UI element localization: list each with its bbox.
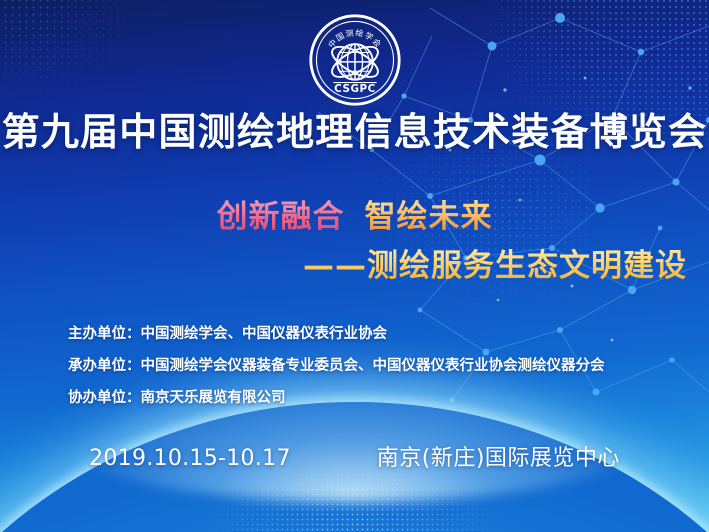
organizer-undertaker: 承办单位：中国测绘学会仪器装备专业委员会、中国仪器仪表行业协会测绘仪器分会 (68, 350, 605, 382)
event-date: 2019.10.15-10.17 (89, 446, 291, 471)
csgpc-logo: 中国测绘学会 CSGPC (308, 13, 402, 107)
organizer-coorganizer: 协办单位：南京天乐展览有限公司 (68, 382, 605, 414)
slogan-part-innovation: 创新融合 (217, 199, 345, 235)
footer-info: 2019.10.15-10.17 南京(新庄)国际展览中心 (0, 440, 709, 472)
organizer-host: 主办单位：中国测绘学会、中国仪器仪表行业协会 (68, 318, 605, 350)
csgpc-emblem-icon: 中国测绘学会 CSGPC (308, 13, 402, 107)
slogan-part-future: 智绘未来 (365, 199, 493, 235)
event-venue: 南京(新庄)国际展览中心 (377, 440, 620, 472)
page-title: 第九届中国测绘地理信息技术装备博览会 (0, 109, 709, 155)
organizer-list: 主办单位：中国测绘学会、中国仪器仪表行业协会 承办单位：中国测绘学会仪器装备专业… (68, 318, 605, 414)
slogan-line-1: 创新融合智绘未来 (0, 198, 709, 236)
event-poster: 中国测绘学会 CSGPC 第九届中国测绘地理信息技术装备博览会 创新融合智绘未来… (0, 0, 709, 532)
svg-text:CSGPC: CSGPC (334, 83, 376, 95)
slogan-line-2: ——测绘服务生态文明建设 (0, 247, 709, 285)
